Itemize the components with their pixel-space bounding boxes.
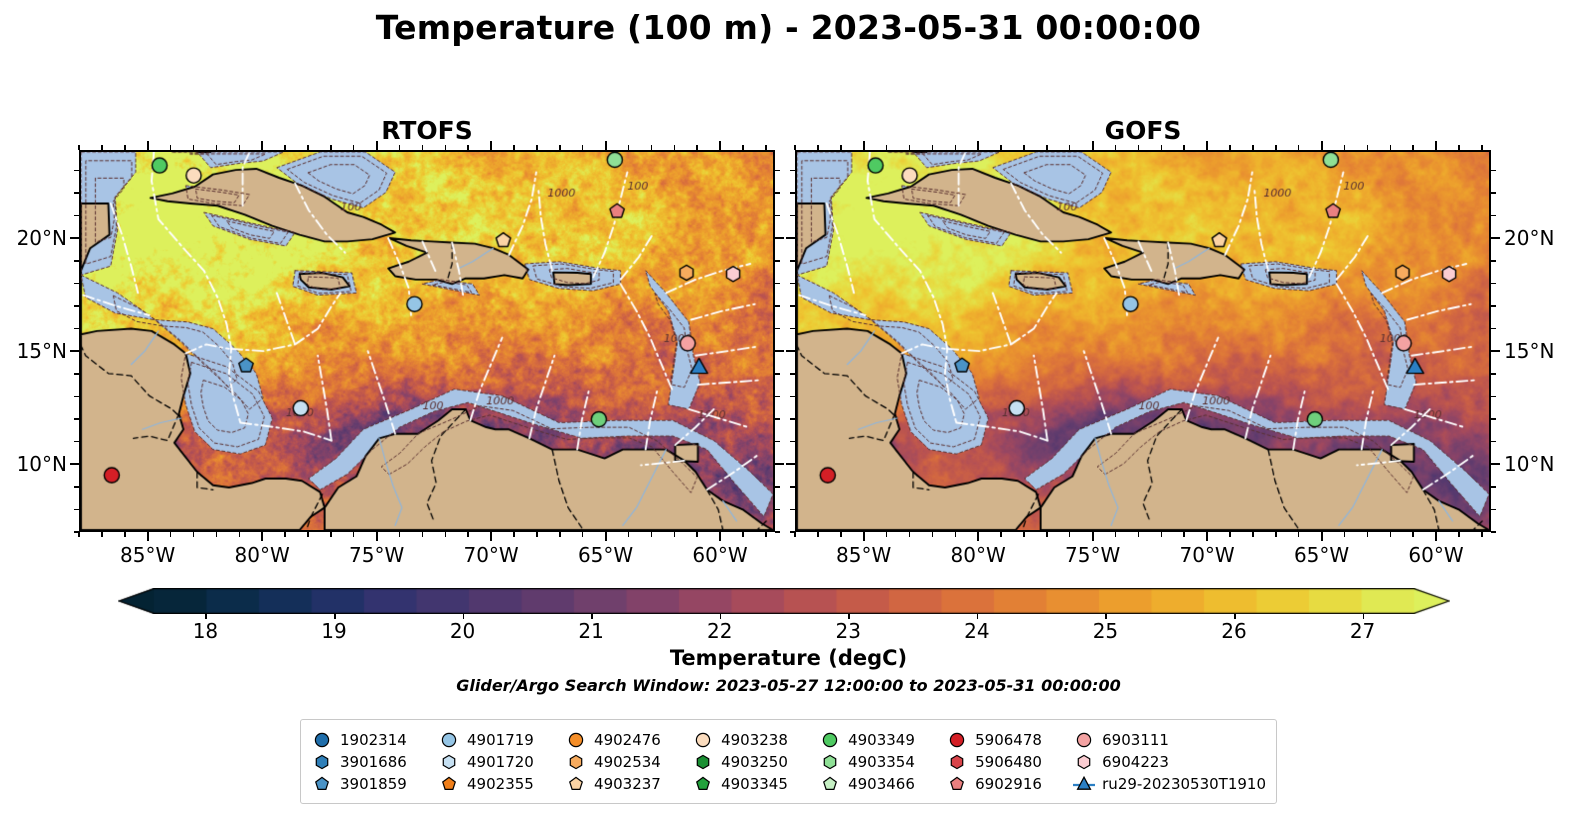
legend-item[interactable]: 6903111 <box>1073 730 1266 750</box>
x-tick <box>239 145 241 150</box>
y-tick <box>775 170 780 172</box>
legend-label: 6903111 <box>1102 731 1169 749</box>
legend-item[interactable]: 1902314 <box>311 730 438 750</box>
x-tick <box>817 532 819 537</box>
map-frame-rtofs[interactable] <box>79 150 775 532</box>
map-canvas-rtofs[interactable] <box>81 152 773 530</box>
y-tick <box>790 215 795 217</box>
legend-marker-hexagon-icon <box>946 752 968 772</box>
x-tick-label: 85°W <box>120 543 175 567</box>
legend-label: 4901719 <box>467 731 534 749</box>
y-tick <box>775 328 780 330</box>
y-tick <box>775 192 780 194</box>
x-tick <box>1161 532 1163 537</box>
x-tick <box>78 532 80 537</box>
legend-item[interactable]: 4902476 <box>565 730 692 750</box>
x-tick <box>909 532 911 537</box>
x-tick <box>284 145 286 150</box>
x-tick <box>977 141 979 150</box>
y-tick <box>1491 170 1496 172</box>
x-tick <box>651 145 653 150</box>
legend-label: 6902916 <box>975 775 1042 793</box>
legend-item[interactable]: 4903238 <box>692 730 819 750</box>
x-tick <box>284 532 286 537</box>
x-tick <box>1275 532 1277 537</box>
y-tick <box>74 170 79 172</box>
x-tick <box>628 145 630 150</box>
x-tick-label: 80°W <box>951 543 1006 567</box>
x-tick <box>932 145 934 150</box>
x-tick <box>765 145 767 150</box>
colorbar-tick-label: 22 <box>707 619 732 643</box>
legend-item[interactable]: 4901720 <box>438 752 565 772</box>
x-tick <box>78 145 80 150</box>
legend-item[interactable]: 4903250 <box>692 752 819 772</box>
x-tick <box>1023 532 1025 537</box>
map-panel-gofs: GOFS <box>795 150 1491 532</box>
x-tick-label: 60°W <box>1408 543 1463 567</box>
x-tick <box>1390 532 1392 537</box>
legend-label: 4903237 <box>594 775 661 793</box>
x-tick <box>909 145 911 150</box>
legend-item[interactable]: 4903354 <box>819 752 946 772</box>
x-tick <box>863 141 865 150</box>
y-tick <box>74 373 79 375</box>
x-tick-label: 70°W <box>1179 543 1234 567</box>
legend-label: 5906478 <box>975 731 1042 749</box>
x-tick-label: 70°W <box>463 543 518 567</box>
x-tick <box>1115 532 1117 537</box>
x-tick <box>1367 145 1369 150</box>
legend-label: 4902476 <box>594 731 661 749</box>
x-tick <box>605 532 607 541</box>
x-tick <box>1161 145 1163 150</box>
legend-marker-circle-icon <box>1073 730 1095 750</box>
x-tick <box>101 532 103 537</box>
y-tick <box>775 283 780 285</box>
legend-item[interactable]: 4903345 <box>692 774 819 794</box>
colorbar-tick-label: 24 <box>964 619 989 643</box>
legend-marker-pentagon-icon <box>946 774 968 794</box>
y-tick <box>1491 509 1496 511</box>
x-tick <box>490 532 492 541</box>
x-tick <box>1092 532 1094 541</box>
x-tick <box>147 532 149 541</box>
legend-label: 4903349 <box>848 731 915 749</box>
legend-item[interactable]: 4902534 <box>565 752 692 772</box>
y-tick <box>1491 215 1496 217</box>
x-tick <box>794 532 796 537</box>
colorbar-label: Temperature (degC) <box>0 646 1577 670</box>
legend-marker-pentagon-icon <box>565 774 587 794</box>
legend-label: 4903466 <box>848 775 915 793</box>
x-tick <box>536 532 538 537</box>
y-tick <box>786 463 795 465</box>
y-tick <box>74 305 79 307</box>
legend-marker-triangle-track-icon <box>1073 774 1095 794</box>
y-tick <box>790 260 795 262</box>
y-tick <box>786 350 795 352</box>
y-tick <box>790 486 795 488</box>
legend-marker-pentagon-icon <box>438 774 460 794</box>
x-tick <box>1138 145 1140 150</box>
x-tick <box>170 145 172 150</box>
legend-marker-circle-icon <box>946 730 968 750</box>
legend-label: 3901686 <box>340 753 407 771</box>
x-tick <box>817 145 819 150</box>
colorbar-tick-label: 25 <box>1093 619 1118 643</box>
x-tick <box>1183 532 1185 537</box>
y-tick <box>790 192 795 194</box>
x-tick <box>977 532 979 541</box>
colorbar-gradient <box>118 588 1450 614</box>
x-tick <box>1458 532 1460 537</box>
x-tick <box>559 532 561 537</box>
y-tick <box>775 237 784 239</box>
x-tick <box>147 141 149 150</box>
y-tick <box>790 441 795 443</box>
x-tick <box>696 145 698 150</box>
x-tick <box>330 532 332 537</box>
legend-label: 3901859 <box>340 775 407 793</box>
legend-marker-pentagon-icon <box>819 774 841 794</box>
y-tick-label: 15°N <box>0 339 67 363</box>
x-tick <box>1115 145 1117 150</box>
x-tick <box>1344 145 1346 150</box>
panel-title-gofs: GOFS <box>795 116 1491 145</box>
legend-item[interactable]: 6902916 <box>946 774 1073 794</box>
legend-marker-hexagon-icon <box>819 752 841 772</box>
y-tick <box>790 170 795 172</box>
x-tick <box>628 532 630 537</box>
x-tick <box>307 145 309 150</box>
x-tick-label: 65°W <box>578 543 633 567</box>
y-tick <box>1491 531 1496 533</box>
legend-label: 6904223 <box>1102 753 1169 771</box>
legend-label: 4903238 <box>721 731 788 749</box>
legend-label: 4902534 <box>594 753 661 771</box>
x-tick <box>1183 145 1185 150</box>
x-tick <box>1206 141 1208 150</box>
colorbar-tick-label: 20 <box>450 619 475 643</box>
y-tick <box>1491 260 1496 262</box>
x-tick <box>794 145 796 150</box>
x-tick <box>886 145 888 150</box>
x-tick <box>353 145 355 150</box>
y-tick <box>775 350 784 352</box>
legend-item[interactable]: 4903237 <box>565 774 692 794</box>
y-tick <box>775 418 780 420</box>
x-tick <box>1046 532 1048 537</box>
x-tick <box>1298 145 1300 150</box>
legend-label: 1902314 <box>340 731 407 749</box>
legend-label: ru29-20230530T1910 <box>1102 775 1266 793</box>
x-tick <box>840 532 842 537</box>
y-tick <box>1491 486 1496 488</box>
x-tick <box>651 532 653 537</box>
legend-label: 4903250 <box>721 753 788 771</box>
y-tick <box>790 531 795 533</box>
y-tick <box>70 350 79 352</box>
x-tick <box>399 532 401 537</box>
y-tick <box>70 463 79 465</box>
legend-label: 5906480 <box>975 753 1042 771</box>
y-tick-label: 10°N <box>0 452 67 476</box>
x-tick-label: 60°W <box>692 543 747 567</box>
y-tick <box>74 531 79 533</box>
x-tick <box>307 532 309 537</box>
x-tick <box>490 141 492 150</box>
y-tick <box>1491 328 1496 330</box>
y-tick <box>1491 418 1496 420</box>
legend-label: 4902355 <box>467 775 534 793</box>
y-tick <box>74 396 79 398</box>
x-tick <box>559 145 561 150</box>
y-tick <box>1491 396 1496 398</box>
x-tick <box>932 532 934 537</box>
legend-item[interactable]: 3901859 <box>311 774 438 794</box>
y-tick <box>775 215 780 217</box>
y-tick <box>790 509 795 511</box>
x-tick <box>376 532 378 541</box>
legend-marker-circle-icon <box>438 730 460 750</box>
y-tick <box>786 237 795 239</box>
map-panel-rtofs: RTOFS <box>79 150 775 532</box>
x-tick <box>840 145 842 150</box>
legend-marker-hexagon-icon <box>692 752 714 772</box>
x-tick <box>467 532 469 537</box>
legend-marker-circle-icon <box>311 730 333 750</box>
y-tick-label: 20°N <box>0 226 67 250</box>
x-tick <box>1435 141 1437 150</box>
y-tick <box>790 373 795 375</box>
x-tick <box>955 532 957 537</box>
x-tick <box>422 145 424 150</box>
legend-item[interactable]: 5906478 <box>946 730 1073 750</box>
x-tick <box>696 532 698 537</box>
colorbar-tick-label: 18 <box>193 619 218 643</box>
y-tick <box>74 509 79 511</box>
x-tick <box>582 145 584 150</box>
x-tick <box>1412 145 1414 150</box>
x-tick <box>467 145 469 150</box>
legend-marker-hexagon-icon <box>565 752 587 772</box>
y-tick <box>775 441 780 443</box>
x-tick <box>513 145 515 150</box>
x-tick-label: 80°W <box>235 543 290 567</box>
y-tick <box>775 396 780 398</box>
x-tick <box>1321 532 1323 541</box>
x-tick <box>719 532 721 541</box>
x-tick <box>1481 145 1483 150</box>
colorbar-tick-label: 19 <box>321 619 346 643</box>
x-tick <box>1344 532 1346 537</box>
legend-item[interactable]: ru29-20230530T1910 <box>1073 774 1266 794</box>
legend-label: 4901720 <box>467 753 534 771</box>
x-tick <box>1367 532 1369 537</box>
x-tick <box>216 145 218 150</box>
y-tick <box>1491 237 1500 239</box>
y-tick-label: 20°N <box>1504 226 1554 250</box>
y-tick <box>74 260 79 262</box>
colorbar-tick-label: 26 <box>1221 619 1246 643</box>
panel-title-rtofs: RTOFS <box>79 116 775 145</box>
x-tick <box>1275 145 1277 150</box>
map-canvas-gofs[interactable] <box>797 152 1489 530</box>
search-window-text: Glider/Argo Search Window: 2023-05-27 12… <box>0 676 1577 695</box>
y-tick <box>775 509 780 511</box>
legend-grid: 1902314490171949024764903238490334959064… <box>311 729 1266 795</box>
y-tick <box>775 486 780 488</box>
y-tick <box>74 283 79 285</box>
x-tick <box>101 145 103 150</box>
x-tick-label: 75°W <box>1065 543 1120 567</box>
x-tick <box>124 532 126 537</box>
x-tick <box>216 532 218 537</box>
legend-item[interactable]: 4903466 <box>819 774 946 794</box>
x-tick <box>955 145 957 150</box>
x-tick <box>513 532 515 537</box>
x-tick <box>536 145 538 150</box>
x-tick <box>193 145 195 150</box>
colorbar <box>118 588 1450 614</box>
y-tick <box>775 373 780 375</box>
x-tick <box>674 532 676 537</box>
y-tick <box>74 418 79 420</box>
x-tick <box>399 145 401 150</box>
x-tick <box>742 145 744 150</box>
legend-box: 1902314490171949024764903238490334959064… <box>300 719 1277 804</box>
x-tick <box>1000 532 1002 537</box>
x-tick <box>1069 532 1071 537</box>
x-tick <box>1412 532 1414 537</box>
legend-marker-circle-icon <box>565 730 587 750</box>
x-tick <box>1458 145 1460 150</box>
x-tick <box>193 532 195 537</box>
x-tick <box>261 141 263 150</box>
legend-marker-pentagon-icon <box>311 774 333 794</box>
legend-label: 4903345 <box>721 775 788 793</box>
x-tick-label: 65°W <box>1294 543 1349 567</box>
map-frame-gofs[interactable] <box>795 150 1491 532</box>
page-title: Temperature (100 m) - 2023-05-31 00:00:0… <box>0 8 1577 47</box>
y-tick <box>1491 283 1496 285</box>
y-tick <box>790 305 795 307</box>
x-tick <box>1435 532 1437 541</box>
y-tick <box>1491 463 1500 465</box>
legend-item[interactable]: 4903349 <box>819 730 946 750</box>
x-tick <box>1000 145 1002 150</box>
x-tick <box>124 145 126 150</box>
x-tick <box>765 532 767 537</box>
x-tick <box>422 532 424 537</box>
y-tick <box>74 486 79 488</box>
legend-item[interactable]: 4902355 <box>438 774 565 794</box>
x-tick <box>1252 532 1254 537</box>
x-tick <box>330 145 332 150</box>
x-tick <box>1069 145 1071 150</box>
x-tick <box>170 532 172 537</box>
y-tick <box>1491 350 1500 352</box>
legend-marker-circle-icon <box>692 730 714 750</box>
x-tick <box>239 532 241 537</box>
y-tick <box>1491 441 1496 443</box>
y-tick <box>775 305 780 307</box>
y-tick <box>790 283 795 285</box>
legend-marker-pentagon-icon <box>692 774 714 794</box>
legend-item[interactable]: 5906480 <box>946 752 1073 772</box>
colorbar-tick-label: 21 <box>578 619 603 643</box>
legend-marker-hexagon-icon <box>438 752 460 772</box>
x-tick <box>1046 145 1048 150</box>
x-tick <box>742 532 744 537</box>
x-tick <box>261 532 263 541</box>
x-tick <box>1252 145 1254 150</box>
x-tick-label: 85°W <box>836 543 891 567</box>
legend-item[interactable]: 3901686 <box>311 752 438 772</box>
colorbar-tick-label: 23 <box>836 619 861 643</box>
x-tick <box>719 141 721 150</box>
y-tick <box>790 396 795 398</box>
x-tick <box>1138 532 1140 537</box>
y-tick <box>74 441 79 443</box>
legend-item[interactable]: 6904223 <box>1073 752 1266 772</box>
x-tick <box>886 532 888 537</box>
y-tick <box>790 328 795 330</box>
legend-marker-circle-icon <box>819 730 841 750</box>
y-tick <box>70 237 79 239</box>
x-tick <box>1298 532 1300 537</box>
y-tick <box>1491 305 1496 307</box>
x-tick <box>1206 532 1208 541</box>
colorbar-tick-label: 27 <box>1350 619 1375 643</box>
legend-marker-hexagon-icon <box>1073 752 1095 772</box>
x-tick <box>1092 141 1094 150</box>
y-tick <box>790 418 795 420</box>
x-tick <box>1481 532 1483 537</box>
x-tick <box>1023 145 1025 150</box>
x-tick <box>353 532 355 537</box>
y-tick <box>74 328 79 330</box>
y-tick <box>74 215 79 217</box>
x-tick <box>1390 145 1392 150</box>
x-tick <box>863 532 865 541</box>
x-tick <box>1229 145 1231 150</box>
x-tick <box>1229 532 1231 537</box>
y-tick <box>1491 373 1496 375</box>
x-tick <box>605 141 607 150</box>
x-tick <box>376 141 378 150</box>
x-tick <box>445 145 447 150</box>
x-tick <box>674 145 676 150</box>
y-tick <box>74 192 79 194</box>
x-tick <box>582 532 584 537</box>
legend-marker-hexagon-icon <box>311 752 333 772</box>
y-tick <box>775 531 780 533</box>
x-tick <box>1321 141 1323 150</box>
y-tick-label: 10°N <box>1504 452 1554 476</box>
y-tick <box>1491 192 1496 194</box>
x-tick-label: 75°W <box>349 543 404 567</box>
y-tick-label: 15°N <box>1504 339 1554 363</box>
legend-label: 4903354 <box>848 753 915 771</box>
y-tick <box>775 260 780 262</box>
x-tick <box>445 532 447 537</box>
legend-item[interactable]: 4901719 <box>438 730 565 750</box>
y-tick <box>775 463 784 465</box>
